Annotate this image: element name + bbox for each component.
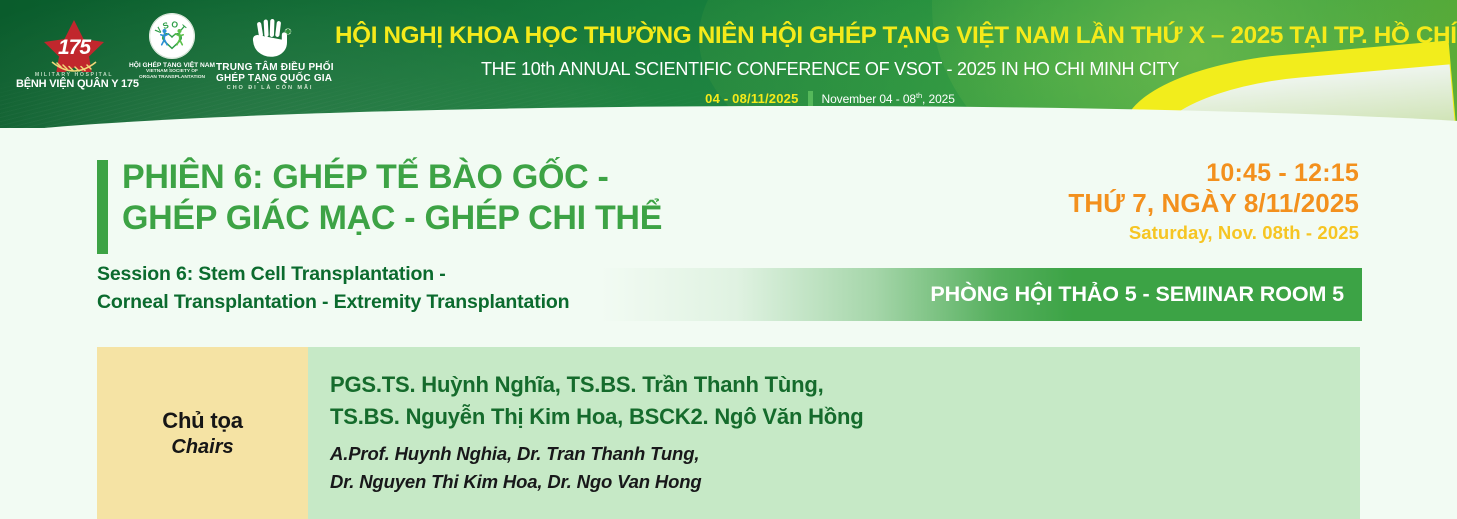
session-title-line2: GHÉP GIÁC MẠC - GHÉP CHI THỂ: [122, 198, 882, 239]
session-title-line1: PHIÊN 6: GHÉP TẾ BÀO GỐC -: [122, 157, 882, 198]
chairs-heading-vietnamese: Chủ tọa: [162, 408, 242, 434]
chair-names-vietnamese: PGS.TS. Huỳnh Nghĩa, TS.BS. Trần Thanh T…: [330, 369, 1360, 433]
logo-vsot-line1: HỘI GHÉP TẠNG VIỆT NAM: [128, 62, 216, 69]
session-time: 10:45 - 12:15: [899, 158, 1359, 188]
logo-military-hospital-175: 175 MILITARY HOSPITAL BỆNH VIỆN QUÂN Y 1…: [16, 16, 132, 90]
chair-names-english-line2: Dr. Nguyen Thi Kim Hoa, Dr. Ngo Van Hong: [330, 468, 1360, 495]
header-titles: HỘI NGHỊ KHOA HỌC THƯỜNG NIÊN HỘI GHÉP T…: [330, 0, 1330, 128]
logo-vsot-line3: ORGAN TRANSPLANTATION: [128, 75, 216, 81]
date-en-suffix: , 2025: [922, 92, 955, 106]
conference-date-vietnamese: 04 - 08/11/2025: [705, 91, 798, 106]
conference-title-vietnamese: HỘI NGHỊ KHOA HỌC THƯỜNG NIÊN HỘI GHÉP T…: [335, 22, 1325, 50]
chairs-heading-box: Chủ tọa Chairs: [97, 347, 308, 519]
logo-vsot: VSOT HỘI GHÉP TẠNG VIỆT NAM VIETNAM SOCI…: [128, 13, 216, 81]
session-date-vietnamese: THỨ 7, NGÀY 8/11/2025: [899, 188, 1359, 219]
conference-header-banner: 175 MILITARY HOSPITAL BỆNH VIỆN QUÂN Y 1…: [0, 0, 1457, 128]
star-175-icon: 175: [16, 16, 132, 72]
session-subtitle-line2: Corneal Transplantation - Extremity Tran…: [97, 289, 797, 317]
seminar-room-label: PHÒNG HỘI THẢO 5 - SEMINAR ROOM 5: [930, 282, 1344, 307]
logo-national-organ-coordination-center: TRUNG TÂM ĐIỀU PHỐI GHÉP TẠNG QUỐC GIA C…: [216, 14, 324, 91]
session-date-english: Saturday, Nov. 08th - 2025: [899, 221, 1359, 245]
chairs-names-panel: PGS.TS. Huỳnh Nghĩa, TS.BS. Trần Thanh T…: [308, 347, 1360, 519]
date-separator: [808, 91, 813, 106]
chair-names-vietnamese-line1: PGS.TS. Huỳnh Nghĩa, TS.BS. Trần Thanh T…: [330, 369, 1360, 401]
chair-names-english: A.Prof. Huynh Nghia, Dr. Tran Thanh Tung…: [330, 440, 1360, 495]
logo-ttdp-line1: TRUNG TÂM ĐIỀU PHỐI: [216, 62, 324, 73]
conference-date-english: November 04 - 08th, 2025: [822, 91, 955, 106]
conference-dates: 04 - 08/11/2025 November 04 - 08th, 2025: [330, 91, 1330, 106]
date-en-prefix: November 04 - 08: [822, 92, 916, 106]
logo-175-line2: BỆNH VIỆN QUÂN Y 175: [16, 78, 132, 90]
logo-ttdp-line3: CHO ĐI LÀ CÒN MÃI: [216, 85, 324, 91]
session-title: PHIÊN 6: GHÉP TẾ BÀO GỐC - GHÉP GIÁC MẠC…: [122, 157, 882, 240]
session-subtitle-line1: Session 6: Stem Cell Transplantation -: [97, 261, 797, 289]
session-subtitle: Session 6: Stem Cell Transplantation - C…: [97, 261, 797, 316]
svg-text:175: 175: [58, 36, 91, 59]
vsot-emblem-icon: VSOT: [149, 13, 195, 59]
conference-title-english: THE 10th ANNUAL SCIENTIFIC CONFERENCE OF…: [330, 59, 1330, 80]
session-accent-bar: [97, 160, 108, 254]
chair-names-vietnamese-line2: TS.BS. Nguyễn Thị Kim Hoa, BSCK2. Ngô Vă…: [330, 401, 1360, 433]
session-schedule: 10:45 - 12:15 THỨ 7, NGÀY 8/11/2025 Satu…: [899, 158, 1359, 245]
hand-heart-icon: [216, 14, 324, 62]
logo-ttdp-line2: GHÉP TẠNG QUỐC GIA: [216, 73, 324, 84]
organizer-logos: 175 MILITARY HOSPITAL BỆNH VIỆN QUÂN Y 1…: [0, 0, 330, 110]
chair-names-english-line1: A.Prof. Huynh Nghia, Dr. Tran Thanh Tung…: [330, 440, 1360, 467]
chairs-heading-english: Chairs: [171, 436, 233, 459]
